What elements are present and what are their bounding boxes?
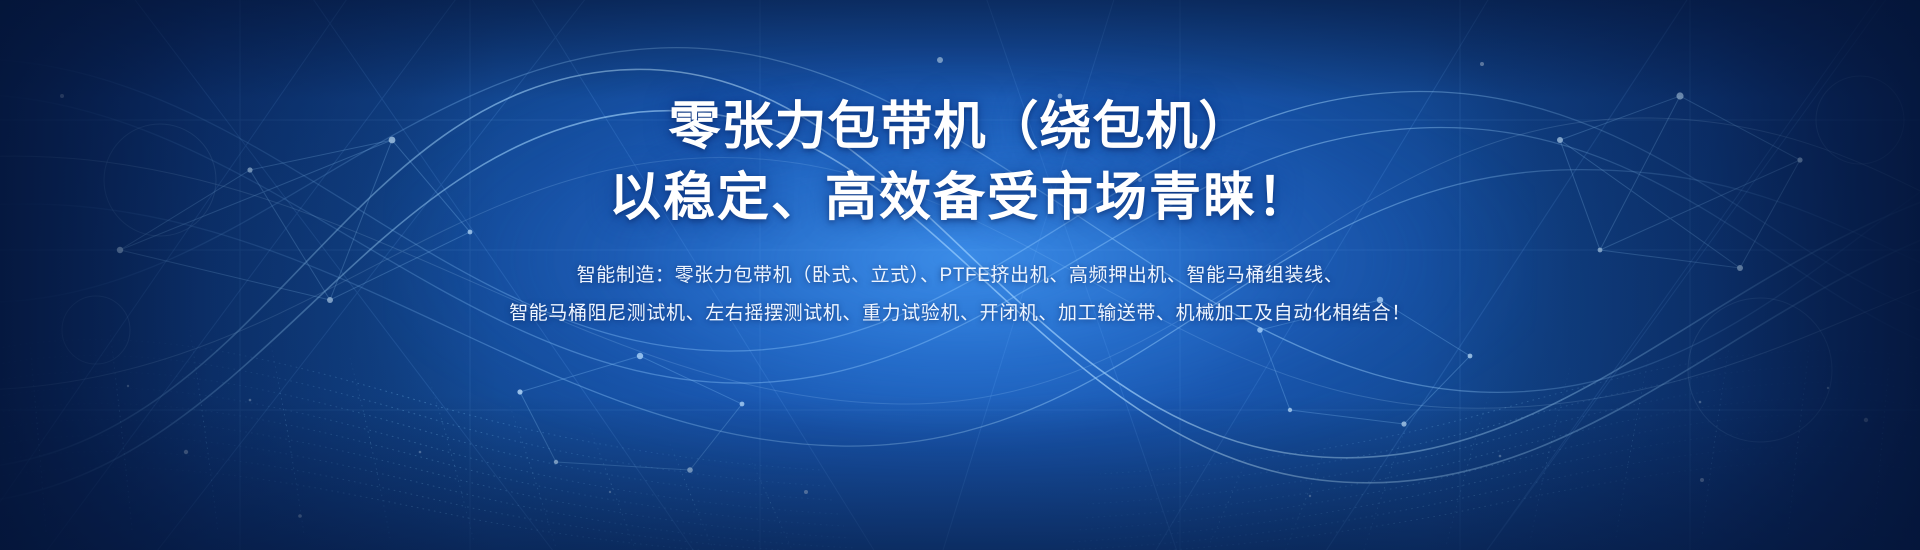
hero-banner: 零张力包带机（绕包机） 以稳定、高效备受市场青睐！ 智能制造：零张力包带机（卧式…	[0, 0, 1920, 550]
headline-line-2: 以稳定、高效备受市场青睐！	[609, 167, 1311, 230]
subcopy-block: 智能制造：零张力包带机（卧式、立式）、PTFE挤出机、高频押出机、智能马桶组装线…	[509, 257, 1411, 333]
headline-line-1: 零张力包带机（绕包机）	[668, 96, 1251, 159]
banner-content: 零张力包带机（绕包机） 以稳定、高效备受市场青睐！ 智能制造：零张力包带机（卧式…	[0, 0, 1920, 550]
subcopy-line-1: 智能制造：零张力包带机（卧式、立式）、PTFE挤出机、高频押出机、智能马桶组装线…	[509, 257, 1411, 295]
subcopy-line-2: 智能马桶阻尼测试机、左右摇摆测试机、重力试验机、开闭机、加工输送带、机械加工及自…	[509, 295, 1411, 333]
